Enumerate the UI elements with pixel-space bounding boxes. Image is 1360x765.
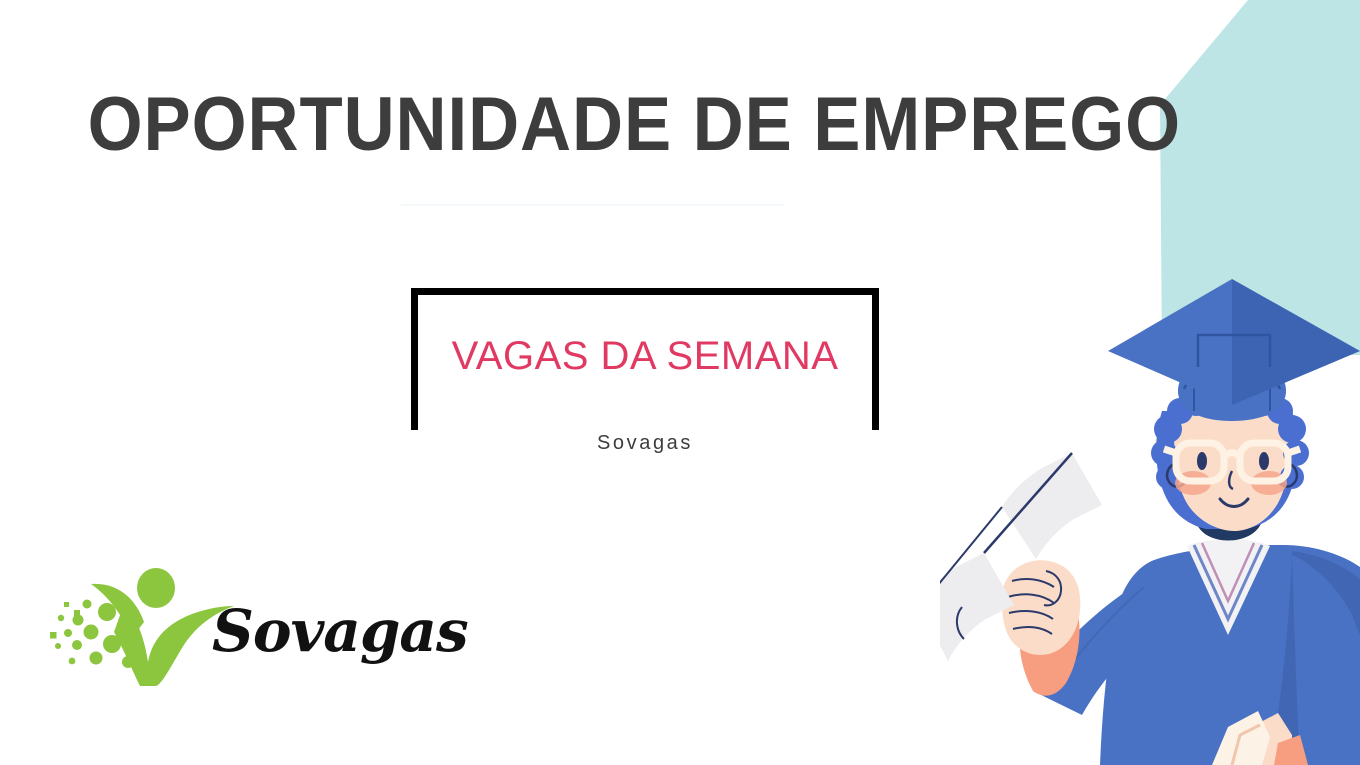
- sovagas-leaf-person-icon: [44, 566, 234, 686]
- frame-brand-label: Sovagas: [411, 430, 879, 456]
- brand-logo: Sovagas: [44, 566, 380, 690]
- frame-title: VAGAS DA SEMANA: [411, 334, 879, 379]
- vagas-frame: VAGAS DA SEMANA Sovagas: [411, 288, 879, 442]
- backdrop-pentagon-shape: [1120, 0, 1360, 360]
- graduate-student-illustration: [940, 215, 1360, 765]
- title-underline-rule: [401, 204, 784, 206]
- logo-wordmark: Sovagas: [212, 600, 468, 662]
- frame-edge-top: [411, 288, 879, 295]
- poster-canvas: OPORTUNIDADE DE EMPREGO VAGAS DA SEMANA …: [0, 0, 1360, 765]
- page-title: OPORTUNIDADE DE EMPREGO: [44, 83, 1309, 167]
